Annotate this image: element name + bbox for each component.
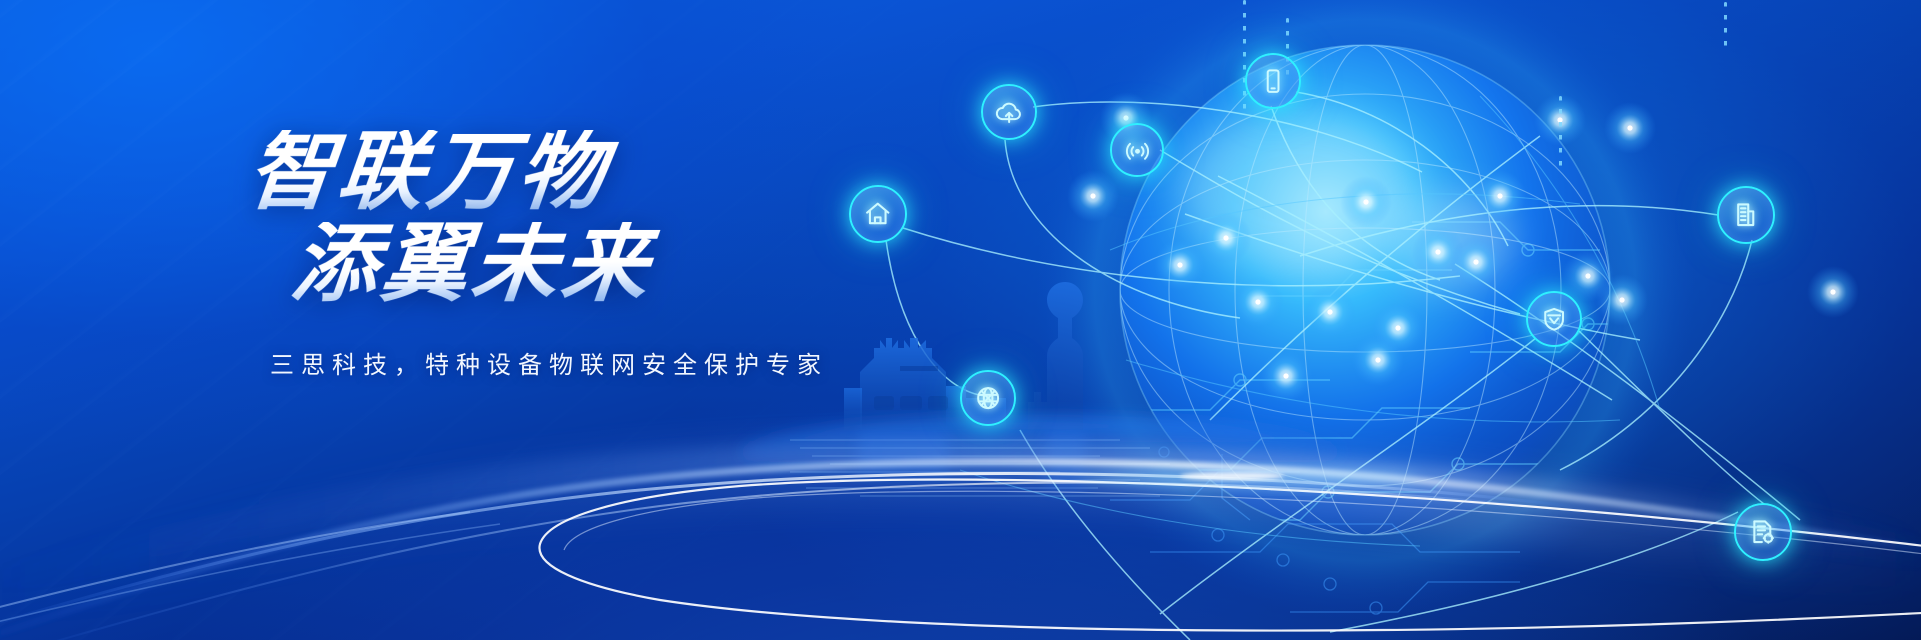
node-signal[interactable] bbox=[1110, 123, 1164, 177]
headline-line-1: 智联万物 bbox=[244, 130, 1033, 214]
cloud-upload-icon bbox=[993, 96, 1025, 128]
node-building[interactable] bbox=[1717, 186, 1775, 244]
glow-point-core bbox=[1375, 357, 1380, 362]
glow-point-core bbox=[1585, 273, 1590, 278]
glow-point-core bbox=[1123, 115, 1128, 120]
glow-point-core bbox=[1283, 373, 1288, 378]
glow-point-core bbox=[1327, 309, 1332, 314]
glow-point-core bbox=[1255, 299, 1260, 304]
glow-point-core bbox=[1497, 193, 1502, 198]
glow-point-core bbox=[1627, 125, 1632, 130]
hero-copy: 智联万物 添翼未来 三思科技，特种设备物联网安全保护专家 bbox=[248, 130, 1028, 380]
node-shield[interactable] bbox=[1526, 291, 1582, 347]
glow-point-core bbox=[1395, 325, 1400, 330]
globe-network-icon bbox=[972, 382, 1004, 414]
hero-banner: 智联万物 添翼未来 三思科技，特种设备物联网安全保护专家 bbox=[0, 0, 1921, 640]
building-icon bbox=[1729, 198, 1762, 231]
headline-line-2: 添翼未来 bbox=[288, 222, 1033, 306]
glow-point-core bbox=[1177, 262, 1182, 267]
bottom-light-trails bbox=[0, 457, 1921, 640]
glow-point-core bbox=[1090, 193, 1095, 198]
node-document-config[interactable] bbox=[1734, 503, 1792, 561]
glow-point-core bbox=[1830, 289, 1835, 294]
node-mobile[interactable] bbox=[1245, 53, 1301, 109]
glow-point-core bbox=[1363, 199, 1368, 204]
glow-point-core bbox=[1435, 249, 1440, 254]
dot-stream-3 bbox=[1724, 2, 1727, 48]
dot-stream-0 bbox=[1243, 0, 1246, 110]
glow-point-core bbox=[1223, 235, 1228, 240]
glow-point-core bbox=[1473, 259, 1478, 264]
hero-subtitle: 三思科技，特种设备物联网安全保护专家 bbox=[270, 345, 1028, 380]
wifi-signal-icon bbox=[1122, 135, 1153, 166]
glow-point-core bbox=[1619, 297, 1624, 302]
dot-stream-2 bbox=[1559, 96, 1562, 168]
document-config-icon bbox=[1746, 515, 1779, 548]
shield-icon bbox=[1538, 303, 1570, 335]
mobile-phone-icon bbox=[1257, 65, 1289, 97]
